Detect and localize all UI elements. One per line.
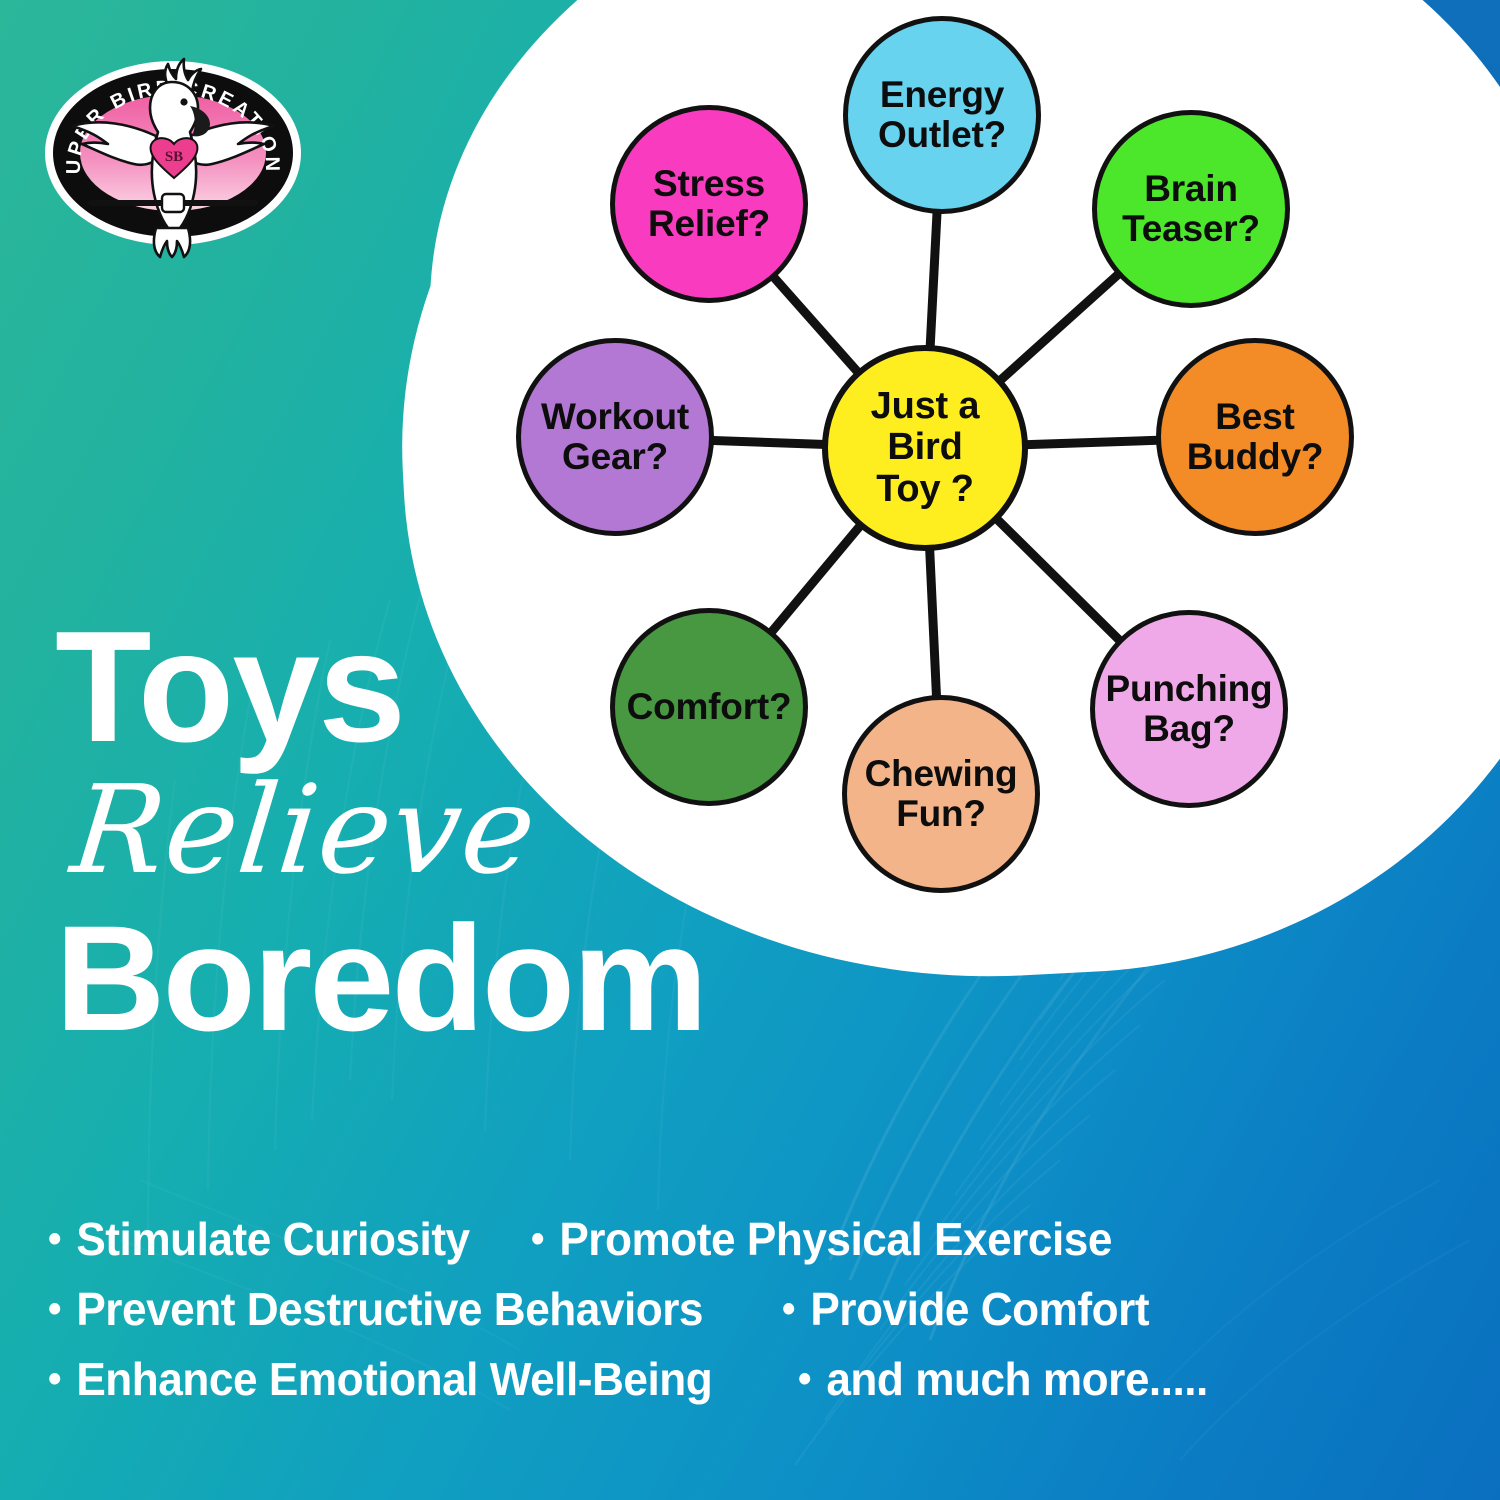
benefits-row: • Stimulate Curiosity • Promote Physical… — [48, 1212, 1448, 1266]
benefit-label: Promote Physical Exercise — [560, 1212, 1113, 1266]
bullet-icon: • — [48, 1359, 61, 1399]
benefit-label: Provide Comfort — [811, 1282, 1150, 1336]
bullet-icon: • — [48, 1219, 61, 1259]
benefits-row: • Prevent Destructive Behaviors • Provid… — [48, 1282, 1448, 1336]
benefit-item: • Stimulate Curiosity — [48, 1212, 470, 1266]
node-just-a-bird-toy[interactable]: Just a Bird Toy ? — [822, 345, 1028, 551]
node-workout-gear-line1: Workout — [541, 396, 689, 437]
benefit-label: Prevent Destructive Behaviors — [76, 1282, 703, 1336]
bullet-icon: • — [531, 1219, 544, 1259]
benefits-row: • Enhance Emotional Well-Being • and muc… — [48, 1352, 1448, 1406]
node-punching-bag-line2: Bag? — [1143, 708, 1235, 749]
node-stress-relief[interactable]: Stress Relief? — [610, 105, 808, 303]
bullet-icon: • — [798, 1359, 811, 1399]
headline-line-boredom: Boredom — [55, 907, 891, 1050]
node-best-buddy-line2: Buddy? — [1187, 436, 1324, 477]
benefit-label: Enhance Emotional Well-Being — [76, 1352, 712, 1406]
bullet-icon: • — [48, 1289, 61, 1329]
benefit-item: • and much more..... — [798, 1352, 1208, 1406]
node-energy-outlet-line2: Outlet? — [878, 114, 1006, 155]
benefit-item: • Provide Comfort — [782, 1282, 1149, 1336]
node-brain-teaser[interactable]: Brain Teaser? — [1092, 110, 1290, 308]
node-best-buddy-line1: Best — [1215, 396, 1294, 437]
center-line2: Bird — [887, 426, 962, 468]
super-bird-creations-logo: SUPER BIRD CREATIONS SB — [38, 48, 308, 263]
benefit-item: • Prevent Destructive Behaviors — [48, 1282, 703, 1336]
benefits-list: • Stimulate Curiosity • Promote Physical… — [48, 1212, 1448, 1422]
node-workout-gear[interactable]: Workout Gear? — [516, 338, 714, 536]
headline-line-toys: Toys — [55, 612, 875, 762]
node-brain-teaser-line2: Teaser? — [1122, 208, 1260, 249]
headline: Toys Relieve Boredom — [55, 612, 875, 1049]
poster: SUPER BIRD CREATIONS SB — [0, 0, 1500, 1500]
benefit-item: • Enhance Emotional Well-Being — [48, 1352, 712, 1406]
bullet-icon: • — [782, 1289, 795, 1329]
node-stress-relief-line2: Relief? — [648, 203, 770, 244]
node-punching-bag[interactable]: Punching Bag? — [1090, 610, 1288, 808]
node-energy-outlet-line1: Energy — [880, 74, 1004, 115]
svg-text:SB: SB — [165, 149, 183, 165]
node-punching-bag-line1: Punching — [1106, 668, 1273, 709]
benefit-label: Stimulate Curiosity — [76, 1212, 469, 1266]
node-best-buddy[interactable]: Best Buddy? — [1156, 338, 1354, 536]
node-energy-outlet[interactable]: Energy Outlet? — [843, 16, 1041, 214]
center-line3: Toy ? — [876, 468, 974, 510]
node-chewing-fun-line2: Fun? — [896, 793, 986, 834]
benefit-label: and much more..... — [826, 1352, 1208, 1406]
node-brain-teaser-line1: Brain — [1144, 168, 1238, 209]
node-stress-relief-line1: Stress — [653, 163, 765, 204]
node-workout-gear-line2: Gear? — [562, 436, 668, 477]
benefit-item: • Promote Physical Exercise — [531, 1212, 1112, 1266]
headline-line-relieve: Relieve — [66, 768, 881, 892]
node-chewing-fun-line1: Chewing — [865, 753, 1018, 794]
center-line1: Just a — [871, 385, 980, 427]
